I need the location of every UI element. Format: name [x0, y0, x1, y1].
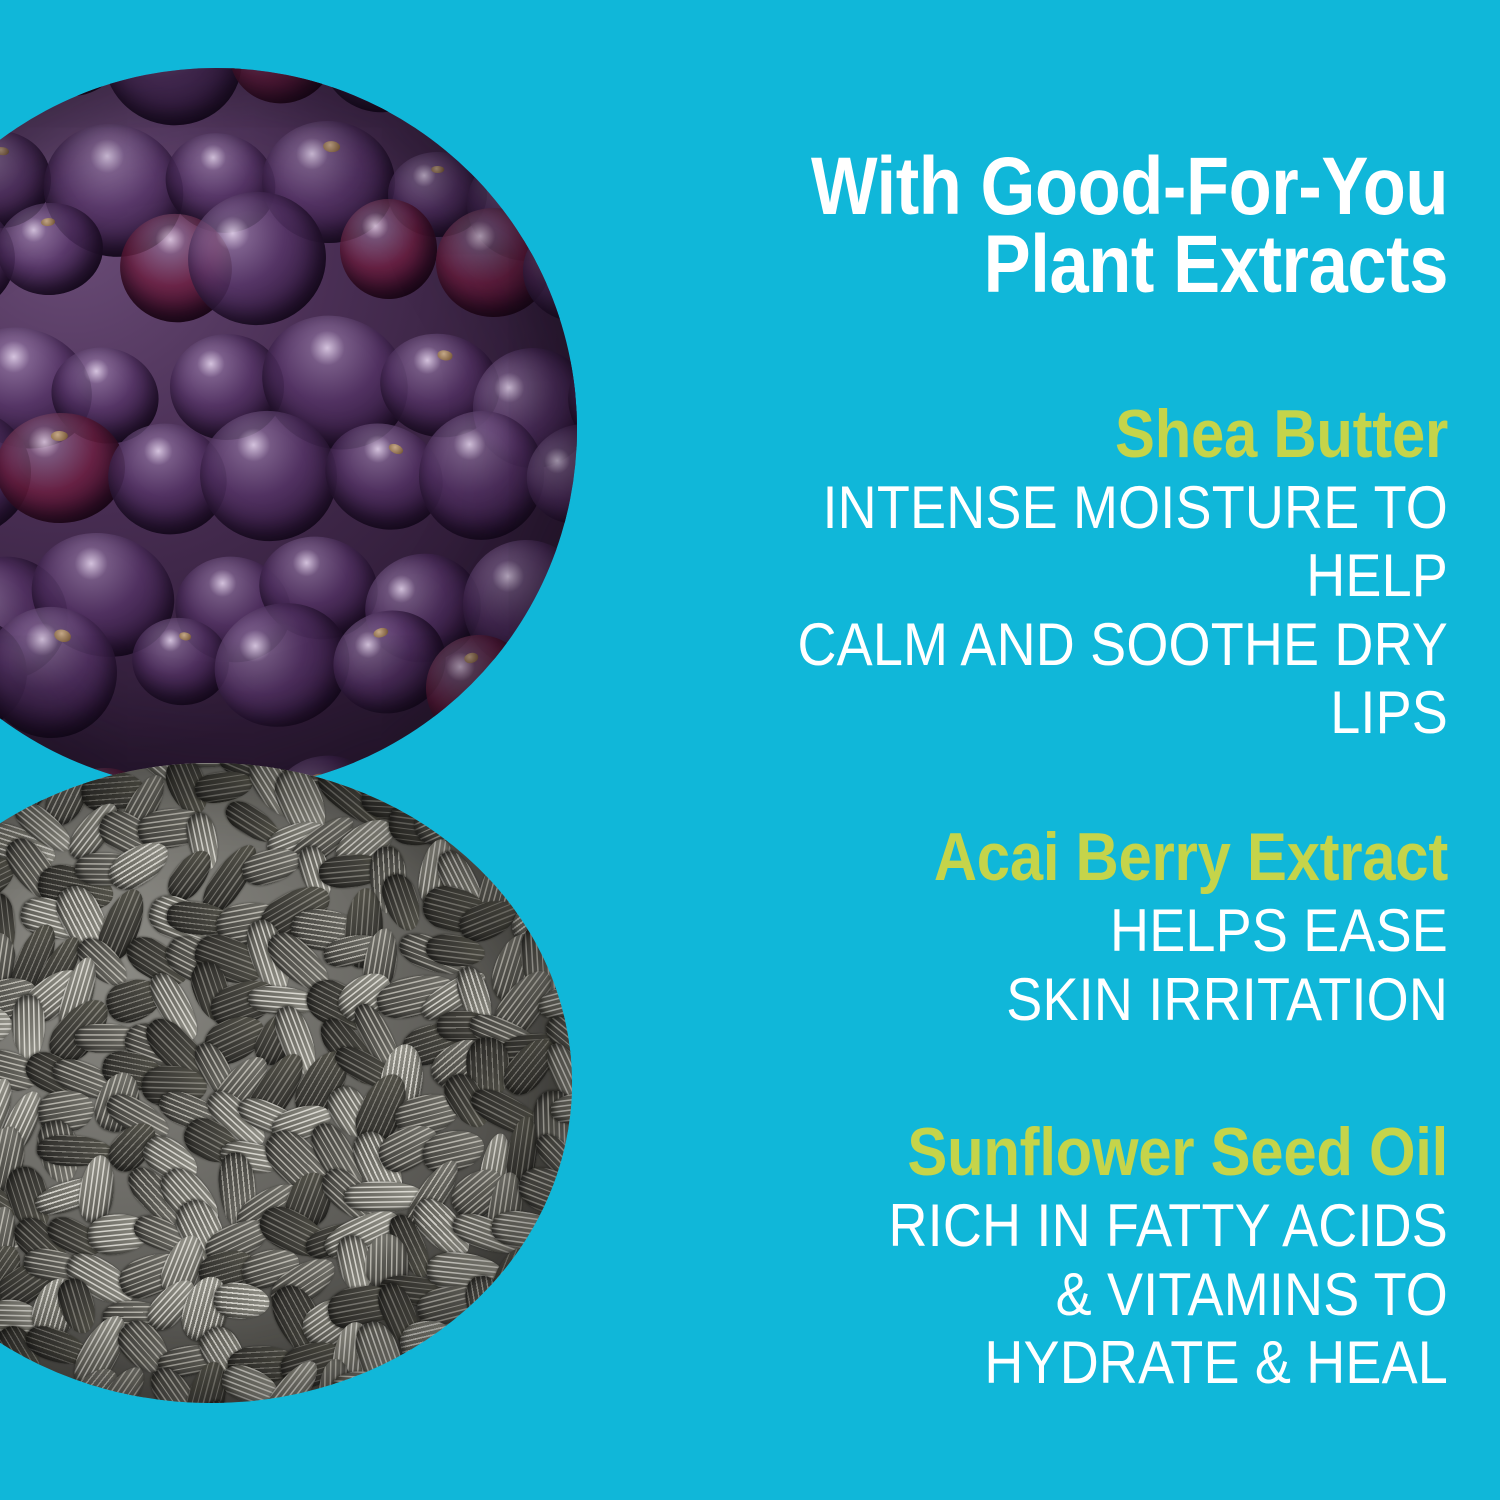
ingredient-name-shea-butter: Shea Butter [691, 400, 1448, 468]
sunflower-seeds-photo [0, 763, 572, 1403]
berry-stem-nub [53, 627, 73, 643]
ingredient-block-acai-berry-extract: Acai Berry Extract HELPS EASE SKIN IRRIT… [588, 747, 1448, 1034]
ingredient-block-shea-butter: Shea Butter INTENSE MOISTURE TO HELP CAL… [588, 304, 1448, 748]
ingredient-imagery [0, 0, 640, 1500]
ingredient-description-sunflower-seed-oil: RICH IN FATTY ACIDS & VITAMINS TO HYDRAT… [674, 1186, 1448, 1397]
ingredient-description-acai-berry-extract: HELPS EASE SKIN IRRITATION [674, 891, 1448, 1034]
infographic-canvas: With Good-For-You Plant Extracts Shea Bu… [0, 0, 1500, 1500]
acai-berry [527, 68, 577, 127]
page-title: With Good-For-You Plant Extracts [708, 0, 1448, 304]
acai-berry [417, 68, 529, 114]
berry-stem-nub [322, 140, 340, 152]
acai-berries-photo [0, 68, 577, 790]
berry-stem-nub [178, 632, 192, 642]
berry-stem-nub [51, 431, 68, 441]
berry-stem-nub [387, 441, 405, 456]
ingredient-description-shea-butter: INTENSE MOISTURE TO HELP CALM AND SOOTHE… [674, 468, 1448, 748]
berry-stem-nub [432, 166, 445, 174]
berry-stem-nub [40, 217, 54, 226]
content-column: With Good-For-You Plant Extracts Shea Bu… [588, 0, 1448, 1397]
ingredient-name-sunflower-seed-oil: Sunflower Seed Oil [691, 1118, 1448, 1186]
ingredient-name-acai-berry-extract: Acai Berry Extract [691, 823, 1448, 891]
berry-stem-nub [522, 166, 538, 178]
ingredient-block-sunflower-seed-oil: Sunflower Seed Oil RICH IN FATTY ACIDS &… [588, 1034, 1448, 1397]
berry-stem-nub [463, 651, 479, 664]
berry-stem-nub [372, 627, 389, 640]
berry-stem-nub [0, 146, 9, 156]
berry-stem-nub [437, 350, 454, 362]
